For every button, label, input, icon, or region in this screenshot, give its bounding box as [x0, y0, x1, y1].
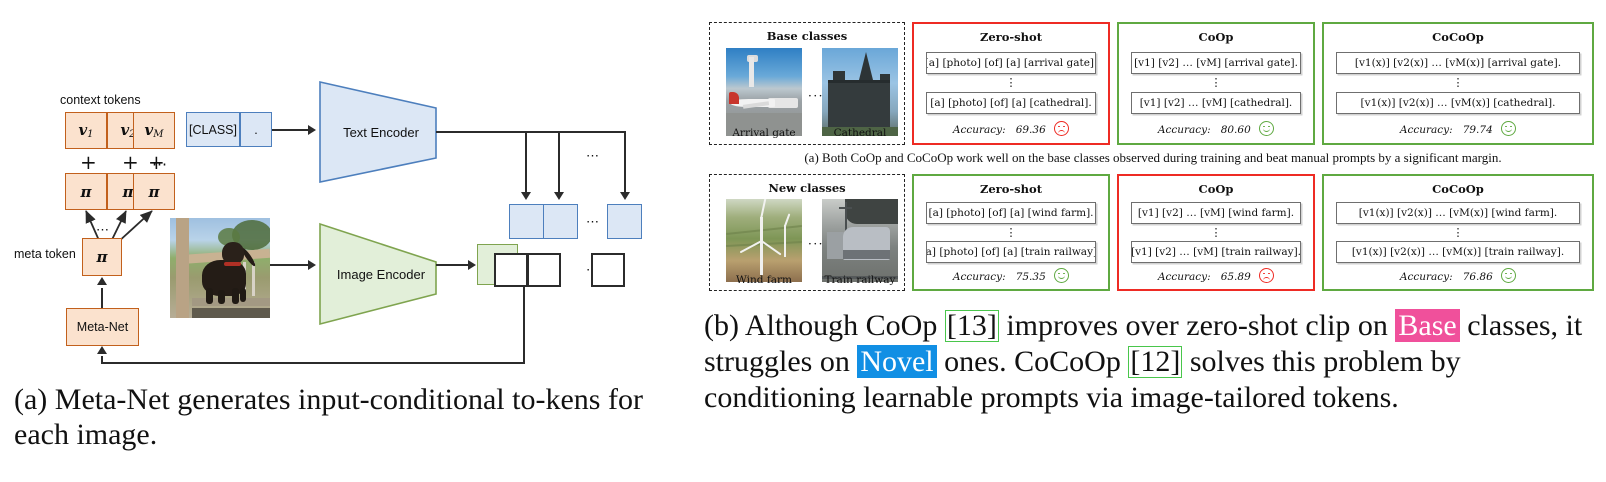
accuracy-row1-cocoop: Accuracy: 79.74	[1324, 121, 1592, 136]
panel-row1-coop: CoOp [v1] [v2] … [vM] [arrival gate]. ⋮ …	[1117, 22, 1315, 145]
panel-row2-zero-shot-title: Zero-shot	[914, 182, 1108, 196]
base-classes-title: Base classes	[710, 29, 904, 43]
text-feature-box-M	[607, 204, 642, 239]
text-feature-box-1	[509, 204, 544, 239]
plus-3: +	[148, 152, 165, 172]
metanet-to-metatoken-line	[101, 288, 103, 308]
panel-row2-cocoop: CoCoOp [v1(x)] [v2(x)] … [vM(x)] [wind f…	[1322, 174, 1594, 291]
thumb-arrival-gate	[726, 48, 802, 136]
vdots-row1-zs: ⋮	[914, 77, 1108, 88]
prompt-row1-coop-2: [v1] [v2] … [vM] [cathedral].	[1131, 92, 1301, 114]
caption-b-part2: improves over zero-shot clip on	[999, 309, 1396, 342]
happy-face-icon	[1054, 268, 1069, 283]
thumb-train-railway	[822, 199, 898, 282]
context-token-v1: v1	[65, 112, 107, 149]
panel-row2-zero-shot: Zero-shot [a] [photo] [of] [a] [wind far…	[912, 174, 1110, 291]
image-encoder: Image Encoder	[318, 222, 438, 326]
panel-row1-zero-shot-title: Zero-shot	[914, 30, 1108, 44]
happy-face-icon	[1259, 121, 1274, 136]
sad-face-icon	[1259, 268, 1274, 283]
accuracy-label-row1-coop: Accuracy:	[1158, 124, 1211, 136]
vdots-row2-zs: ⋮	[914, 227, 1108, 238]
caption-a: (a) Meta-Net generates input-conditional…	[14, 382, 644, 453]
left-figure-meta-net-diagram: context tokens v1 v2 ⋯ vM	[0, 0, 670, 482]
prompt-row1-coop-1: [v1] [v2] … [vM] [arrival gate].	[1131, 52, 1301, 74]
accuracy-row1-coop: Accuracy: 80.60	[1119, 121, 1313, 136]
class-to-textencoder-line	[272, 129, 310, 131]
text-encoder-label: Text Encoder	[318, 80, 438, 184]
class-to-textencoder-arrow	[308, 125, 316, 135]
citation-12[interactable]: [12]	[1128, 346, 1182, 378]
text-feature-arrow-1	[521, 192, 531, 200]
thumb-caption-arrival-gate: Arrival gate	[720, 127, 808, 139]
panel-row1-coop-title: CoOp	[1119, 30, 1313, 44]
imageencoder-to-feature-line	[436, 264, 471, 266]
meta-pi-symbol: π	[97, 248, 108, 266]
happy-face-icon	[1501, 121, 1516, 136]
period-token-label: .	[254, 123, 257, 137]
caption-b-part4: ones. CoCoOp	[937, 345, 1129, 378]
image-encoder-label: Image Encoder	[318, 222, 438, 326]
prompt-row2-coop-2: [v1] [v2] … [vM] [train railway].	[1131, 241, 1301, 263]
textencoder-out-bus	[436, 131, 626, 133]
panel-row2-coop: CoOp [v1] [v2] … [vM] [wind farm]. ⋮ [v1…	[1117, 174, 1315, 291]
prompt-row1-cocoop-2: [v1(x)] [v2(x)] … [vM(x)] [cathedral].	[1336, 92, 1580, 114]
accuracy-label-row2-zs: Accuracy:	[953, 271, 1006, 283]
pi-symbol-M: π	[149, 183, 160, 201]
caption-b: (b) Although CoOp [13] improves over zer…	[704, 308, 1602, 416]
vM-symbol: vM	[145, 121, 164, 140]
new-classes-panel: New classes ··· Wind farm Train railway	[709, 174, 905, 291]
input-image-dog-photo	[170, 218, 270, 318]
accuracy-label-row1-zs: Accuracy:	[953, 124, 1006, 136]
text-feature-box-2	[543, 204, 578, 239]
figure-root: context tokens v1 v2 ⋯ vM	[0, 0, 1606, 482]
citation-13[interactable]: [13]	[945, 310, 999, 342]
prompt-row2-cocoop-1: [v1(x)] [v2(x)] … [vM(x)] [wind farm].	[1336, 202, 1580, 224]
thumb-caption-train-railway: Train railway	[816, 274, 904, 286]
prompt-row1-zs-2: [a] [photo] [of] [a] [cathedral].	[926, 92, 1096, 114]
accuracy-value-row1-zs: 69.36	[1016, 124, 1046, 136]
accuracy-value-row1-coop: 80.60	[1221, 124, 1251, 136]
thumb-cathedral	[822, 48, 898, 136]
panel-row2-coop-title: CoOp	[1119, 182, 1313, 196]
score-box-1	[494, 253, 528, 287]
metanet-to-metatoken-arrow	[97, 277, 107, 285]
text-feature-ellipsis: ⋯	[586, 150, 601, 163]
prompt-row2-cocoop-2: [v1(x)] [v2(x)] … [vM(x)] [train railway…	[1336, 241, 1580, 263]
text-feature-arrow-2	[554, 192, 564, 200]
feedback-bus-horizontal	[101, 362, 525, 364]
period-token-box: .	[240, 112, 272, 147]
accuracy-label-row2-coop: Accuracy:	[1158, 271, 1211, 283]
prompt-row2-zs-2: [a] [photo] [of] [a] [train railway].	[926, 241, 1096, 263]
highlight-novel: Novel	[857, 345, 936, 378]
context-token-vM: vM	[133, 112, 175, 149]
bus-to-metanet-arrow	[97, 346, 107, 354]
v1-symbol: v1	[78, 121, 93, 140]
panel-row2-cocoop-title: CoCoOp	[1324, 182, 1592, 196]
accuracy-value-row2-cocoop: 76.86	[1463, 271, 1493, 283]
class-token-box: [CLASS]	[186, 112, 240, 147]
accuracy-row2-zs: Accuracy: 75.35	[914, 268, 1108, 283]
image-to-imageencoder-line	[270, 264, 310, 266]
prompt-row2-zs-1: [a] [photo] [of] [a] [wind farm].	[926, 202, 1096, 224]
class-token-label: [CLASS]	[189, 123, 237, 137]
accuracy-label-row2-cocoop: Accuracy:	[1400, 271, 1453, 283]
vdots-row1-coop: ⋮	[1119, 77, 1313, 88]
score-box-2	[527, 253, 561, 287]
new-classes-title: New classes	[710, 181, 904, 195]
plus-1: +	[80, 152, 97, 172]
text-feature-drop-3	[624, 131, 626, 196]
right-figure-comparison: Base classes ··· Arrival gate Cathedral …	[700, 0, 1606, 482]
prompt-row1-cocoop-1: [v1(x)] [v2(x)] … [vM(x)] [arrival gate]…	[1336, 52, 1580, 74]
pi-symbol-2: π	[123, 183, 134, 201]
pi-symbol-1: π	[81, 183, 92, 201]
vdots-row2-cocoop: ⋮	[1324, 227, 1592, 238]
fanout-ellipsis: ⋯	[96, 224, 111, 237]
highlight-base: Base	[1395, 309, 1459, 342]
prompt-row2-coop-1: [v1] [v2] … [vM] [wind farm].	[1131, 202, 1301, 224]
meta-token-box: π	[82, 238, 122, 276]
caption-b-part1: (b) Although CoOp	[704, 309, 945, 342]
accuracy-value-row2-zs: 75.35	[1016, 271, 1046, 283]
panel-row1-cocoop-title: CoCoOp	[1324, 30, 1592, 44]
image-to-imageencoder-arrow	[308, 260, 316, 270]
happy-face-icon	[1501, 268, 1516, 283]
vdots-row1-cocoop: ⋮	[1324, 77, 1592, 88]
plus-2: +	[122, 152, 139, 172]
text-feature-drop-1	[525, 131, 527, 196]
thumb-caption-wind-farm: Wind farm	[720, 274, 808, 286]
accuracy-value-row1-cocoop: 79.74	[1463, 124, 1493, 136]
meta-token-label: meta token	[14, 247, 76, 261]
text-feature-box-ellipsis: ⋯	[586, 216, 601, 229]
text-feature-drop-2	[558, 131, 560, 196]
prompt-row1-zs-1: [a] [photo] [of] [a] [arrival gate].	[926, 52, 1096, 74]
sad-face-icon	[1054, 121, 1069, 136]
panel-row1-zero-shot: Zero-shot [a] [photo] [of] [a] [arrival …	[912, 22, 1110, 145]
thumb-wind-farm	[726, 199, 802, 282]
score-box-M	[591, 253, 625, 287]
meta-net-box: Meta-Net	[66, 308, 139, 346]
panel-row1-cocoop: CoCoOp [v1(x)] [v2(x)] … [vM(x)] [arriva…	[1322, 22, 1594, 145]
context-tokens-label: context tokens	[60, 93, 141, 107]
thumb-caption-cathedral: Cathedral	[816, 127, 904, 139]
accuracy-value-row2-coop: 65.89	[1221, 271, 1251, 283]
accuracy-row2-cocoop: Accuracy: 76.86	[1324, 268, 1592, 283]
accuracy-row2-coop: Accuracy: 65.89	[1119, 268, 1313, 283]
imageencoder-to-feature-arrow	[468, 260, 476, 270]
mid-caption-a: (a) Both CoOp and CoCoOp work well on th…	[700, 150, 1606, 166]
accuracy-label-row1-cocoop: Accuracy:	[1400, 124, 1453, 136]
text-feature-arrow-3	[620, 192, 630, 200]
vdots-row2-coop: ⋮	[1119, 227, 1313, 238]
text-encoder: Text Encoder	[318, 80, 438, 184]
base-classes-panel: Base classes ··· Arrival gate Cathedral	[709, 22, 905, 145]
meta-net-label: Meta-Net	[77, 320, 128, 334]
accuracy-row1-zs: Accuracy: 69.36	[914, 121, 1108, 136]
